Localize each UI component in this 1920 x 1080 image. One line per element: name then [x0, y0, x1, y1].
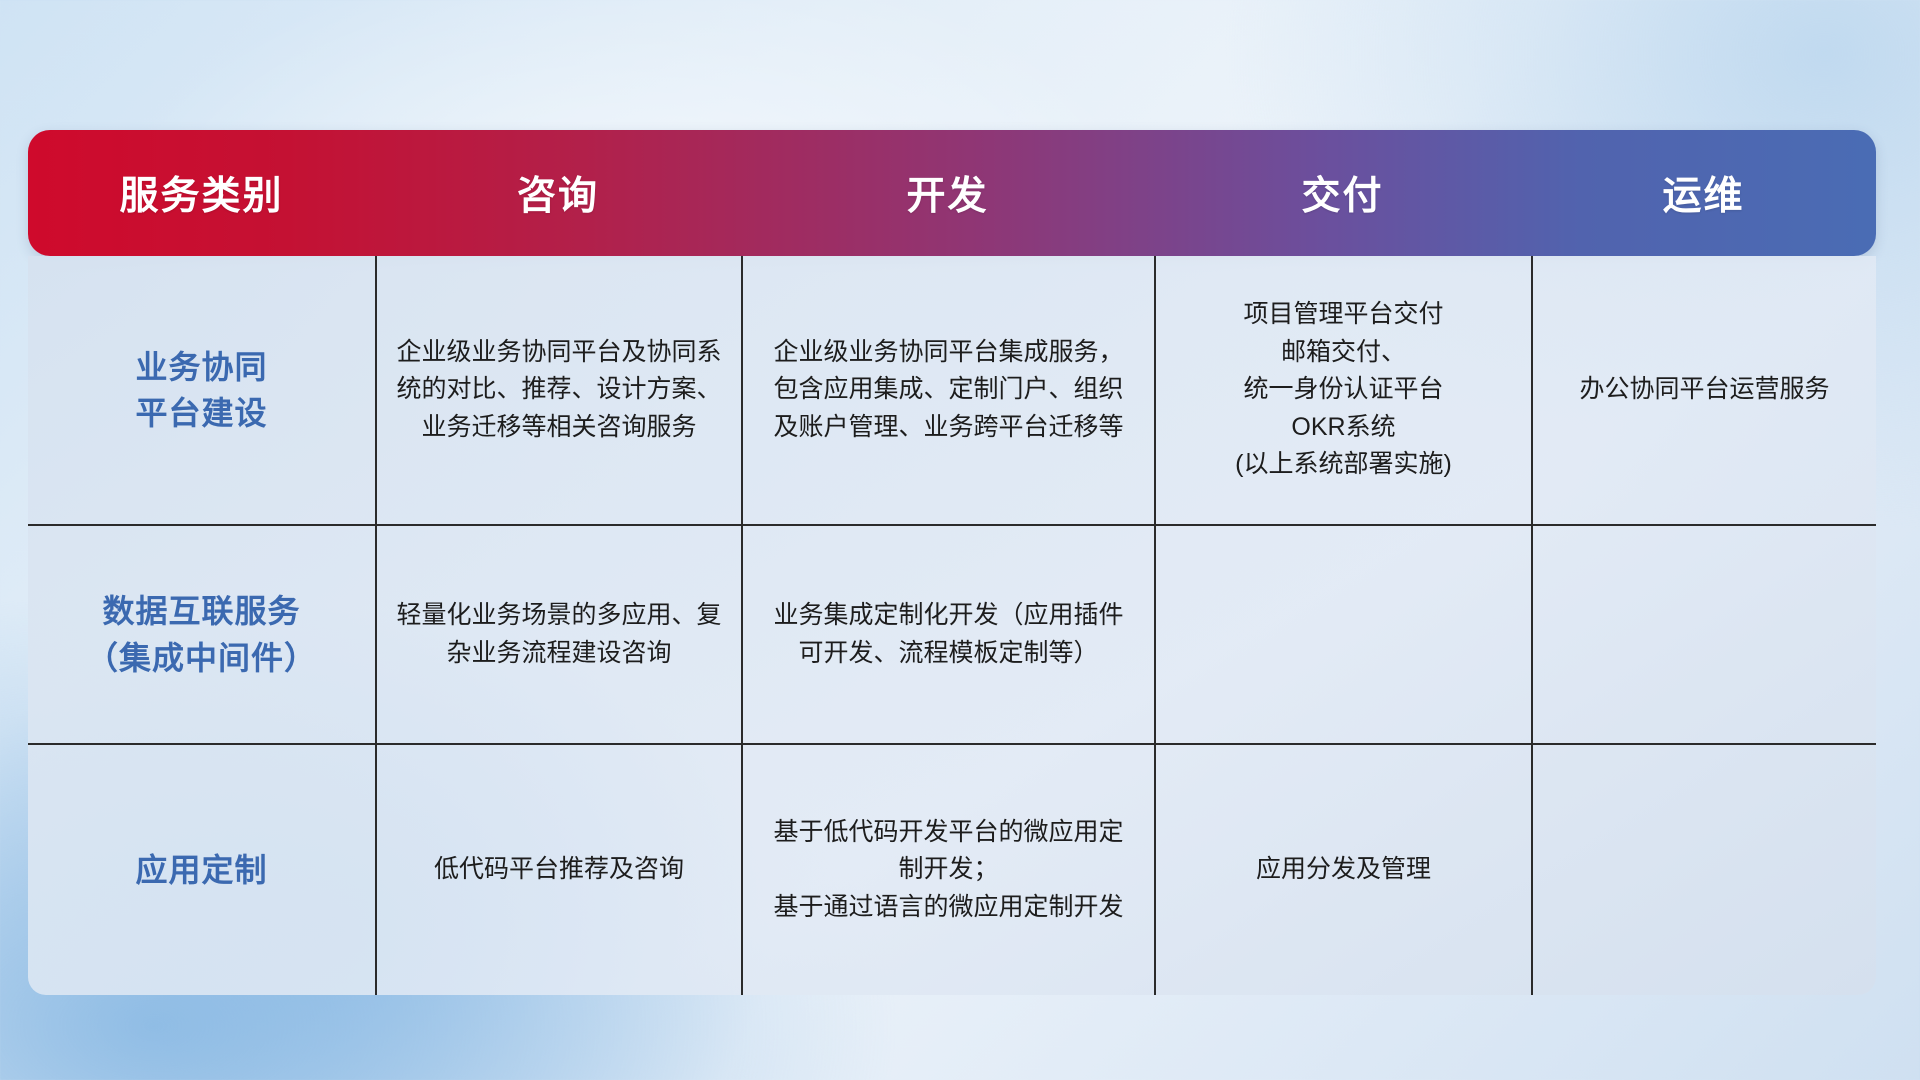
cell-operations: 办公协同平台运营服务: [1531, 256, 1876, 524]
table-row: 数据互联服务 （集成中间件） 轻量化业务场景的多应用、复 杂业务流程建设咨询 业…: [28, 524, 1876, 743]
cell-delivery: 项目管理平台交付 邮箱交付、 统一身份认证平台 OKR系统 (以上系统部署实施): [1154, 256, 1531, 524]
cell-consulting: 企业级业务协同平台及协同系 统的对比、推荐、设计方案、 业务迁移等相关咨询服务: [375, 256, 741, 524]
cell-consulting: 低代码平台推荐及咨询: [375, 745, 741, 995]
table-header-cell-consulting: 咨询: [375, 130, 741, 256]
row-category-label: 数据互联服务 （集成中间件）: [28, 526, 375, 743]
cell-development: 企业级业务协同平台集成服务， 包含应用集成、定制门户、组织 及账户管理、业务跨平…: [741, 256, 1154, 524]
row-category-label: 应用定制: [28, 745, 375, 995]
cell-development: 基于低代码开发平台的微应用定 制开发； 基于通过语言的微应用定制开发: [741, 745, 1154, 995]
table-row: 业务协同 平台建设 企业级业务协同平台及协同系 统的对比、推荐、设计方案、 业务…: [28, 256, 1876, 524]
cell-delivery: 应用分发及管理: [1154, 745, 1531, 995]
cell-development: 业务集成定制化开发（应用插件 可开发、流程模板定制等）: [741, 526, 1154, 743]
slide-canvas: 服务类别 咨询 开发 交付 运维 业务协同 平台建设 企业级业务协同平台及协同系…: [0, 0, 1920, 1080]
table-header-cell-delivery: 交付: [1154, 130, 1531, 256]
cell-consulting: 轻量化业务场景的多应用、复 杂业务流程建设咨询: [375, 526, 741, 743]
cell-delivery: [1154, 526, 1531, 743]
table-body: 业务协同 平台建设 企业级业务协同平台及协同系 统的对比、推荐、设计方案、 业务…: [28, 256, 1876, 995]
table-header-cell-operations: 运维: [1531, 130, 1876, 256]
table-row: 应用定制 低代码平台推荐及咨询 基于低代码开发平台的微应用定 制开发； 基于通过…: [28, 743, 1876, 995]
service-matrix-table: 服务类别 咨询 开发 交付 运维 业务协同 平台建设 企业级业务协同平台及协同系…: [28, 130, 1876, 995]
table-header-row: 服务类别 咨询 开发 交付 运维: [28, 130, 1876, 256]
cell-operations: [1531, 526, 1876, 743]
cell-operations: [1531, 745, 1876, 995]
table-header-cell-category: 服务类别: [28, 130, 375, 256]
table-header-cell-development: 开发: [741, 130, 1154, 256]
row-category-label: 业务协同 平台建设: [28, 256, 375, 524]
